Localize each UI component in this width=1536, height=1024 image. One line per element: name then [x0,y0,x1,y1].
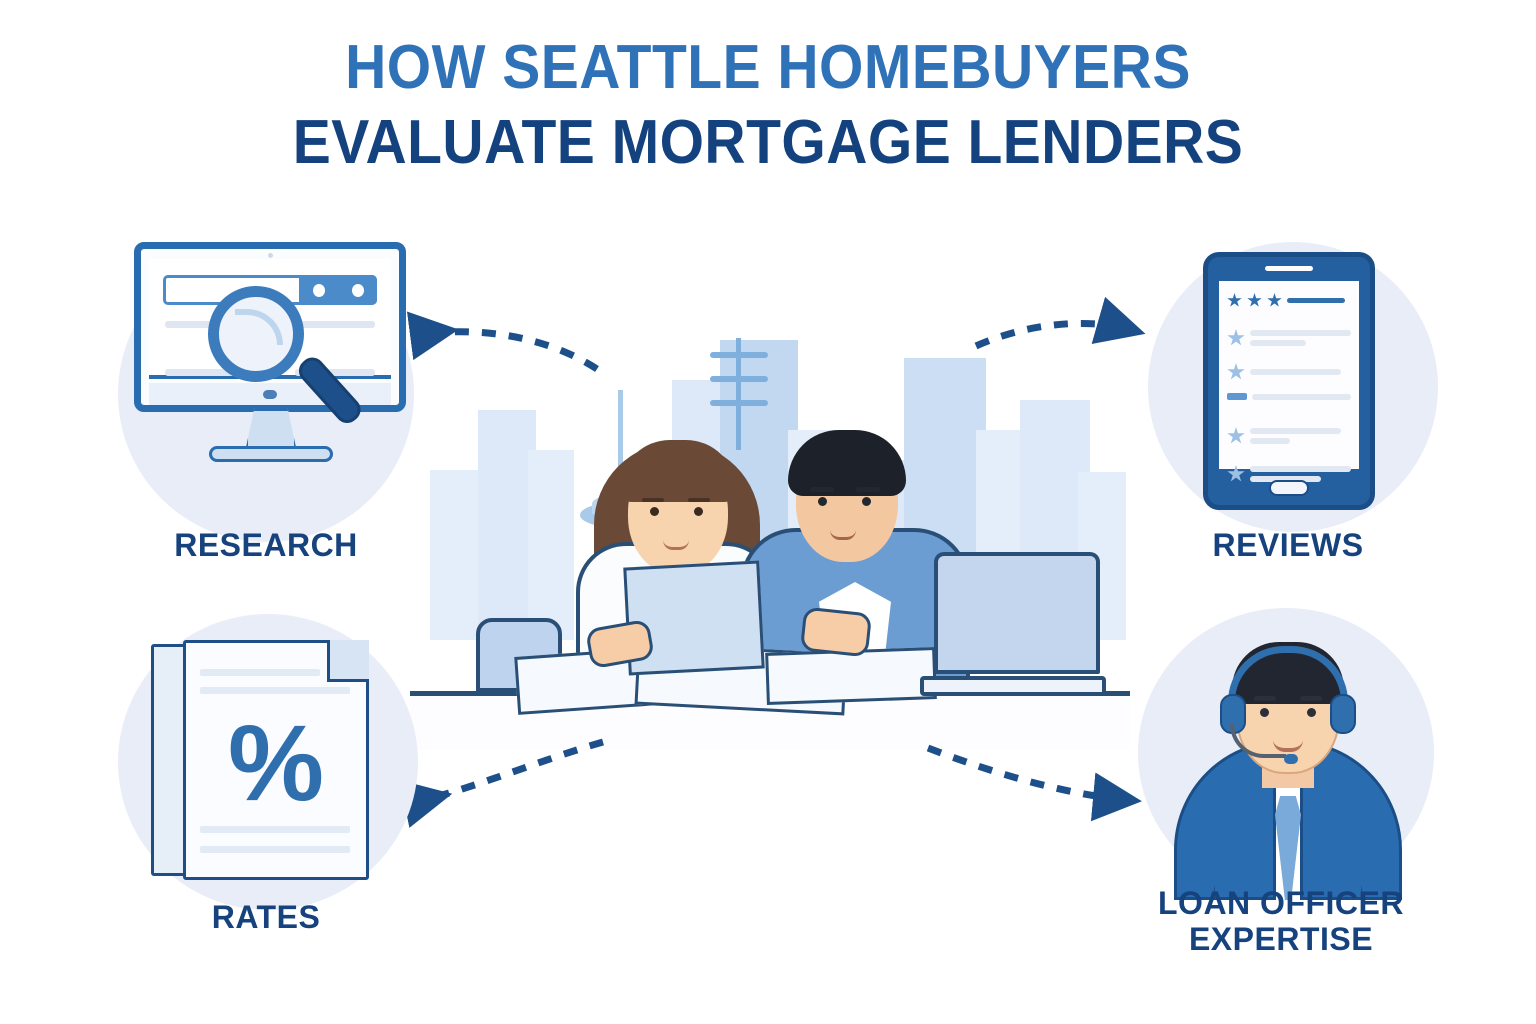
tablet-star-reviews-icon [1203,252,1375,510]
page-fold [327,640,369,682]
headset-microphone-tip [1284,754,1298,764]
review-lines [1250,330,1351,346]
review-line [1250,330,1351,336]
eye [1260,708,1269,717]
review-lines [1250,428,1351,444]
node-label-reviews: REVIEWS [1118,528,1458,564]
review-header-row [1227,293,1351,308]
document-line [200,846,350,853]
lens-gleam [235,309,283,345]
review-line [1250,340,1306,346]
webcam-dot [268,253,273,258]
desktop-monitor-search-icon [126,242,416,492]
star-icon [1247,293,1262,308]
node-label-loan-officer: LOAN OFFICER EXPERTISE [1106,886,1456,958]
content-line [295,321,375,328]
node-reviews[interactable]: REVIEWS [1118,232,1458,592]
node-rates[interactable]: % RATES [96,608,436,978]
review-line [1287,298,1345,303]
eye [1307,708,1316,717]
monitor-indicator [263,390,277,399]
document-front: % [183,640,369,880]
document-line [200,669,320,676]
tablet-speaker [1265,266,1313,271]
magnifying-glass-icon [208,286,304,382]
review-row [1227,427,1351,445]
arrow-center-to-loan-officer [928,748,1128,800]
star-icon [1227,293,1242,308]
search-button-dot [352,284,364,297]
headset-earcup [1330,694,1356,734]
document-line [200,826,350,833]
review-row [1227,393,1351,400]
star-icon [1227,427,1245,445]
percent-symbol: % [186,709,366,817]
arrow-center-to-rates [418,742,603,801]
tablet-screen [1219,281,1359,469]
review-line [1250,428,1341,434]
review-line [1250,369,1341,375]
star-icon [1227,393,1247,400]
review-line [1252,394,1351,400]
star-icon [1267,293,1282,308]
tablet-body [1203,252,1375,510]
search-button-dot [313,284,325,297]
document-line [200,687,350,694]
review-lines [1250,369,1351,375]
star-icon [1227,329,1245,347]
infographic-canvas: HOW SEATTLE HOMEBUYERS EVALUATE MORTGAGE… [0,0,1536,1024]
arrow-center-to-reviews [976,323,1132,346]
node-loan-officer[interactable]: LOAN OFFICER EXPERTISE [1106,600,1456,1000]
review-row [1227,329,1351,347]
node-label-rates: RATES [96,900,436,936]
review-row [1227,363,1351,381]
review-lines [1287,298,1351,303]
node-label-research: RESEARCH [96,528,436,564]
monitor-stand-base [209,446,333,462]
loan-officer-headset-icon [1168,620,1408,900]
review-lines [1252,394,1351,400]
star-icon [1227,465,1245,483]
search-buttons[interactable] [299,275,377,305]
review-line [1250,438,1290,444]
documents-percent-icon: % [151,640,381,890]
review-line [1250,466,1351,472]
tablet-home-button[interactable] [1269,480,1309,496]
star-icon [1227,363,1245,381]
node-research[interactable]: RESEARCH [96,232,436,592]
arrow-center-to-research [424,332,597,369]
